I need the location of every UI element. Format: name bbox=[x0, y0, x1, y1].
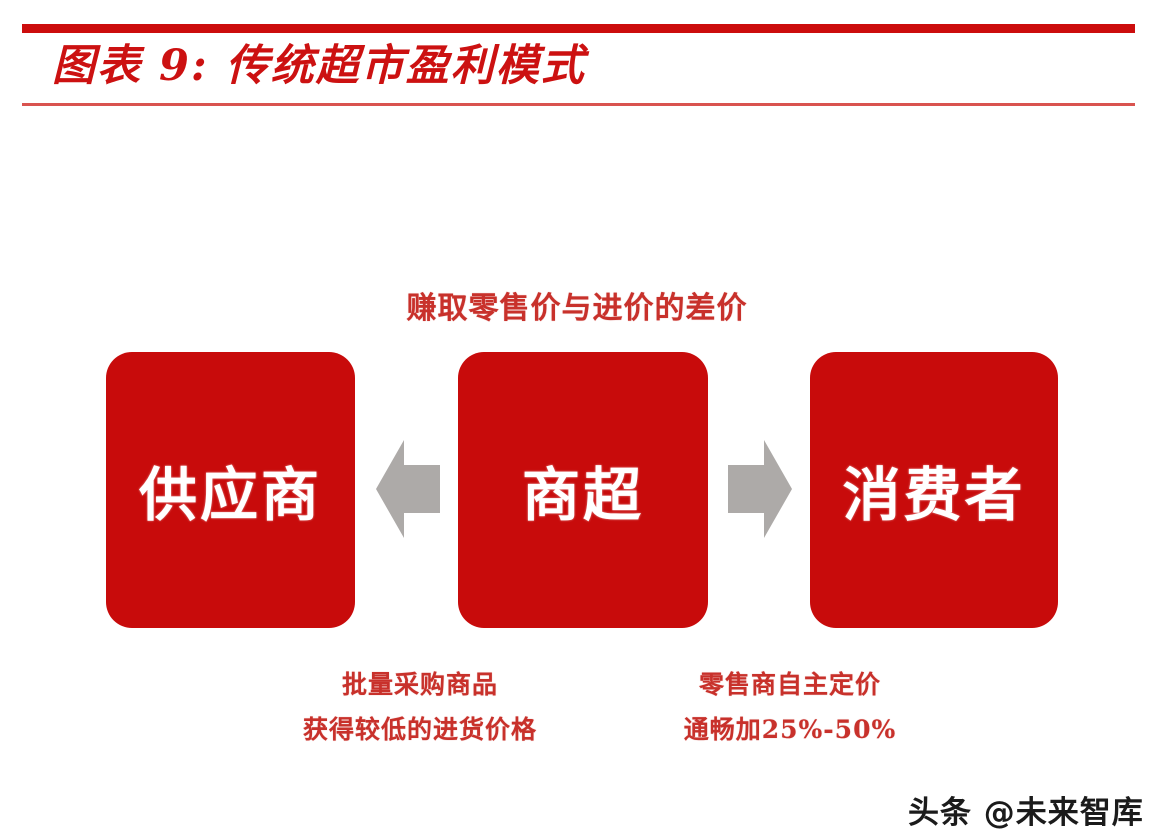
caption-supply-line1: 批量采购商品 bbox=[230, 662, 610, 707]
figure-page: 图表 9: 传统超市盈利模式 赚取零售价与进价的差价 供应商 商超 消费者 批量… bbox=[0, 0, 1154, 838]
header-top-rule bbox=[22, 24, 1135, 33]
caption-retail: 零售商自主定价 通畅加25%-50% bbox=[600, 662, 980, 752]
flow-caption: 赚取零售价与进价的差价 bbox=[0, 283, 1154, 327]
header-bottom-rule bbox=[22, 103, 1135, 106]
caption-retail-line2: 通畅加25%-50% bbox=[600, 707, 980, 752]
arrow-left-icon bbox=[376, 432, 440, 546]
node-retailer: 商超 bbox=[458, 352, 708, 628]
node-supplier: 供应商 bbox=[106, 352, 355, 628]
node-consumer-label: 消费者 bbox=[842, 448, 1025, 532]
node-supplier-label: 供应商 bbox=[139, 448, 322, 532]
watermark: 头条 @未来智库 bbox=[908, 787, 1144, 832]
caption-supply-line2: 获得较低的进货价格 bbox=[230, 707, 610, 752]
caption-retail-line1: 零售商自主定价 bbox=[600, 662, 980, 707]
page-title: 图表 9: 传统超市盈利模式 bbox=[52, 36, 952, 96]
caption-supply: 批量采购商品 获得较低的进货价格 bbox=[230, 662, 610, 752]
node-retailer-label: 商超 bbox=[522, 448, 644, 532]
node-consumer: 消费者 bbox=[810, 352, 1058, 628]
arrow-right-icon bbox=[728, 432, 792, 546]
